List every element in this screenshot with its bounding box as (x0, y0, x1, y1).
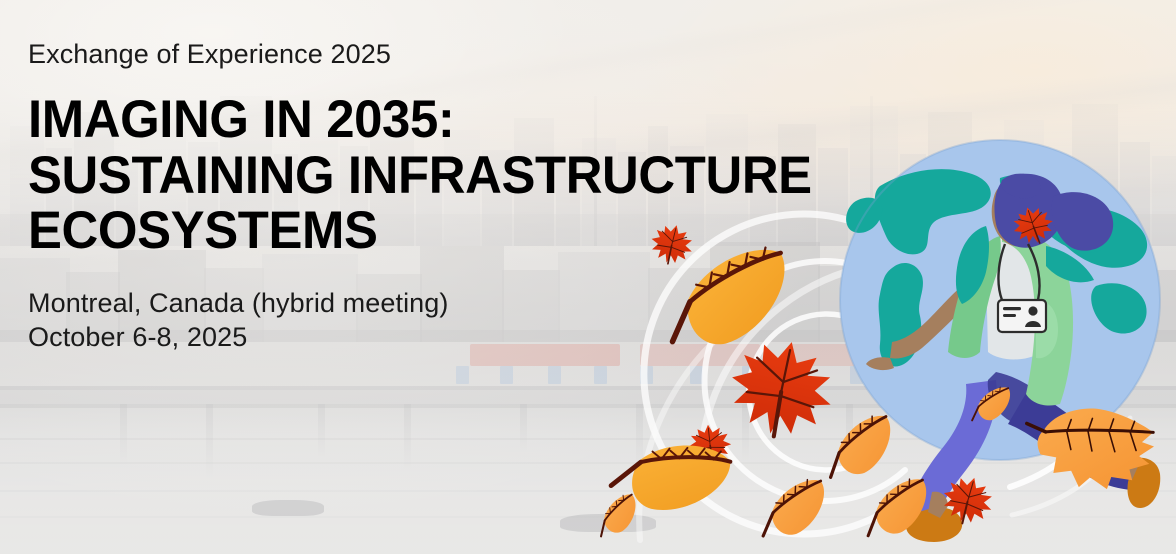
event-meta: Montreal, Canada (hybrid meeting) Octobe… (28, 286, 844, 354)
title-line-3: ECOSYSTEMS (28, 203, 812, 258)
event-dates: October 6-8, 2025 (28, 320, 844, 354)
page-title: IMAGING IN 2035: SUSTAINING INFRASTRUCTU… (28, 92, 812, 257)
event-location: Montreal, Canada (hybrid meeting) (28, 286, 844, 320)
banner-text-block: Exchange of Experience 2025 IMAGING IN 2… (28, 38, 844, 354)
event-kicker: Exchange of Experience 2025 (28, 38, 844, 70)
title-line-1: IMAGING IN 2035: (28, 92, 812, 147)
elm-leaf-orange (590, 492, 643, 539)
event-banner: Exchange of Experience 2025 IMAGING IN 2… (0, 0, 1176, 554)
title-line-2: SUSTAINING INFRASTRUCTURE (28, 148, 812, 203)
conference-badge-icon (998, 300, 1046, 332)
